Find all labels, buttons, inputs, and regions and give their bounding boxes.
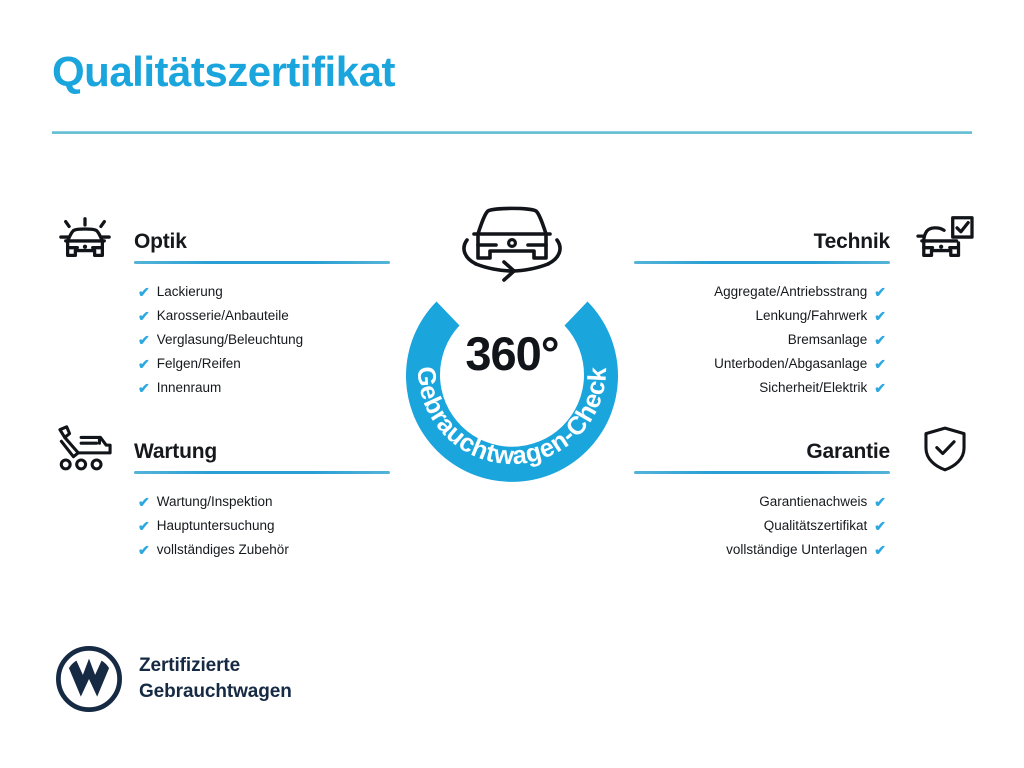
title-divider xyxy=(52,131,972,134)
wrench-car-icon xyxy=(46,418,124,480)
list-item: vollständige Unterlagen ✔ xyxy=(624,538,886,562)
check-icon: ✔ xyxy=(874,519,886,533)
list-item-label: Wartung/Inspektion xyxy=(157,490,273,514)
check-icon: ✔ xyxy=(138,333,150,347)
check-icon: ✔ xyxy=(138,285,150,299)
check-icon: ✔ xyxy=(874,285,886,299)
list-item-label: Lenkung/Fahrwerk xyxy=(755,304,867,328)
panel-title: Wartung xyxy=(134,440,217,464)
check-icon: ✔ xyxy=(874,333,886,347)
list-item: ✔ Karosserie/Anbauteile xyxy=(138,304,400,328)
list-item-label: Sicherheit/Elektrik xyxy=(759,376,867,400)
panel-rule xyxy=(134,471,390,474)
check-icon: ✔ xyxy=(138,309,150,323)
panel-header: Optik xyxy=(52,208,400,270)
list-item: Lenkung/Fahrwerk ✔ xyxy=(624,304,886,328)
360-check-badge: Gebrauchtwagen-Check 360° xyxy=(378,196,646,492)
panel-title: Optik xyxy=(134,230,187,254)
list-item: ✔ vollständiges Zubehör xyxy=(138,538,400,562)
panel-title: Garantie xyxy=(806,440,890,464)
panel-optik: Optik ✔ Lackierung ✔ Karosserie/Anbautei… xyxy=(52,208,400,400)
list-item: Qualitätszertifikat ✔ xyxy=(624,514,886,538)
checklist-optik: ✔ Lackierung ✔ Karosserie/Anbauteile ✔ V… xyxy=(52,280,400,400)
panel-rule xyxy=(134,261,390,264)
list-item-label: Verglasung/Beleuchtung xyxy=(157,328,303,352)
page-title: Qualitätszertifikat xyxy=(52,50,395,94)
list-item-label: Bremsanlage xyxy=(788,328,868,352)
panel-rule xyxy=(634,471,890,474)
list-item-label: Garantienachweis xyxy=(759,490,867,514)
list-item: ✔ Innenraum xyxy=(138,376,400,400)
check-icon: ✔ xyxy=(138,543,150,557)
panel-rule xyxy=(634,261,890,264)
list-item-label: Hauptuntersuchung xyxy=(157,514,275,538)
list-item: Aggregate/Antriebsstrang ✔ xyxy=(624,280,886,304)
car-checkbox-icon xyxy=(906,208,984,270)
list-item: Garantienachweis ✔ xyxy=(624,490,886,514)
list-item-label: Aggregate/Antriebsstrang xyxy=(714,280,867,304)
footer-line-1: Zertifizierte xyxy=(139,653,292,679)
panel-wartung: Wartung ✔ Wartung/Inspektion ✔ Hauptunte… xyxy=(52,418,400,562)
panel-title: Technik xyxy=(814,230,890,254)
vw-logo xyxy=(55,645,123,713)
checklist-wartung: ✔ Wartung/Inspektion ✔ Hauptuntersuchung… xyxy=(52,490,400,562)
shield-check-icon xyxy=(906,418,984,480)
check-icon: ✔ xyxy=(138,495,150,509)
list-item-label: Felgen/Reifen xyxy=(157,352,241,376)
footer-line-2: Gebrauchtwagen xyxy=(139,679,292,705)
panel-technik: Technik Aggregate/Antriebsstrang ✔ Lenku… xyxy=(624,208,972,400)
check-icon: ✔ xyxy=(138,381,150,395)
check-icon: ✔ xyxy=(874,495,886,509)
check-icon: ✔ xyxy=(874,543,886,557)
list-item: ✔ Lackierung xyxy=(138,280,400,304)
list-item-label: Karosserie/Anbauteile xyxy=(157,304,289,328)
list-item-label: vollständiges Zubehör xyxy=(157,538,289,562)
panel-header: Garantie xyxy=(624,418,972,480)
panel-header: Technik xyxy=(624,208,972,270)
checklist-garantie: Garantienachweis ✔ Qualitätszertifikat ✔… xyxy=(624,490,972,562)
badge-center-label: 360° xyxy=(378,326,646,381)
list-item-label: Unterboden/Abgasanlage xyxy=(714,352,867,376)
footer-branding: Zertifizierte Gebrauchtwagen xyxy=(55,645,292,713)
list-item-label: vollständige Unterlagen xyxy=(726,538,867,562)
check-icon: ✔ xyxy=(138,519,150,533)
list-item: Sicherheit/Elektrik ✔ xyxy=(624,376,886,400)
list-item: ✔ Felgen/Reifen xyxy=(138,352,400,376)
list-item-label: Innenraum xyxy=(157,376,222,400)
footer-text: Zertifizierte Gebrauchtwagen xyxy=(139,653,292,705)
panel-header: Wartung xyxy=(52,418,400,480)
checklist-technik: Aggregate/Antriebsstrang ✔ Lenkung/Fahrw… xyxy=(624,280,972,400)
car-shine-icon xyxy=(46,208,124,270)
check-icon: ✔ xyxy=(138,357,150,371)
list-item: ✔ Hauptuntersuchung xyxy=(138,514,400,538)
panel-garantie: Garantie Garantienachweis ✔ Qualitätszer… xyxy=(624,418,972,562)
list-item: ✔ Wartung/Inspektion xyxy=(138,490,400,514)
list-item-label: Qualitätszertifikat xyxy=(764,514,868,538)
list-item: Unterboden/Abgasanlage ✔ xyxy=(624,352,886,376)
list-item-label: Lackierung xyxy=(157,280,223,304)
check-icon: ✔ xyxy=(874,309,886,323)
list-item: ✔ Verglasung/Beleuchtung xyxy=(138,328,400,352)
check-icon: ✔ xyxy=(874,381,886,395)
list-item: Bremsanlage ✔ xyxy=(624,328,886,352)
check-icon: ✔ xyxy=(874,357,886,371)
